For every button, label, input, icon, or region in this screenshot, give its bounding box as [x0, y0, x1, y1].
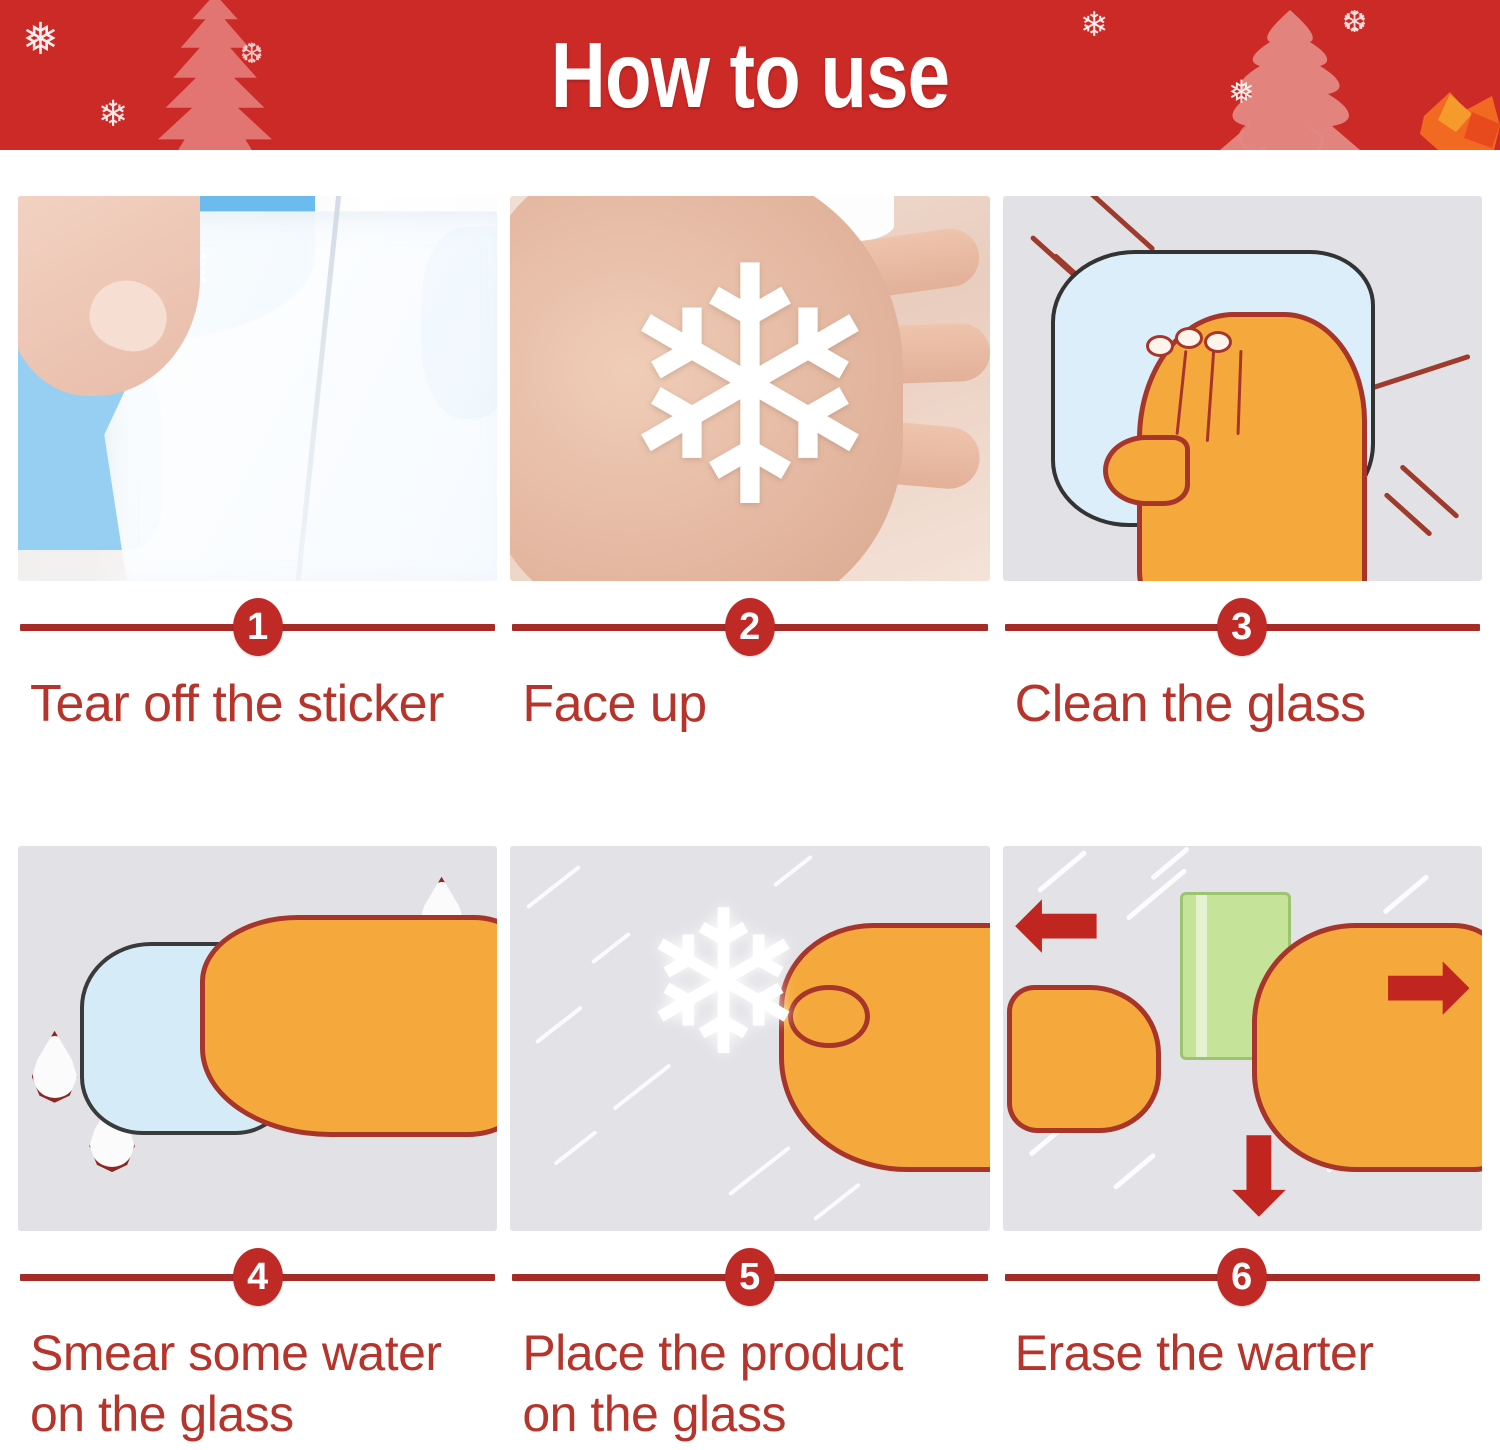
page-title: How to use	[135, 0, 1365, 150]
water-drop-icon	[28, 1031, 82, 1103]
photo-peel-sticker: ❄ ❄	[18, 196, 497, 581]
snowflake-icon: ❄	[612, 224, 889, 554]
steps-grid: ❄ ❄ 1 Tear off the sticker	[0, 150, 1500, 1450]
step-caption: Erase the warter	[1003, 1323, 1482, 1384]
step-divider: 1	[18, 581, 497, 673]
step-number-badge: 2	[725, 598, 775, 656]
step-number: 6	[1232, 1256, 1253, 1299]
step-divider: 2	[510, 581, 989, 673]
arrow-right-icon: ➡	[1382, 931, 1473, 1039]
illustration-erase-water: ⬅ ➡ ⬇	[1003, 846, 1482, 1231]
step-caption: Smear some water on the glass	[18, 1323, 497, 1445]
snowflake-icon: ❄	[640, 885, 808, 1085]
step-divider: 3	[1003, 581, 1482, 673]
illustration-smear-water	[18, 846, 497, 1231]
snowflake-icon: ❅	[22, 18, 59, 62]
step-divider: 5	[510, 1231, 989, 1323]
step-number: 3	[1232, 606, 1253, 649]
step-caption: Tear off the sticker	[18, 673, 497, 736]
step-caption: Clean the glass	[1003, 673, 1482, 736]
step-number: 5	[739, 1256, 760, 1299]
step-2: ❄ 2 Face up	[510, 150, 989, 800]
illustration-clean-glass	[1003, 196, 1482, 581]
step-number-badge: 4	[233, 1248, 283, 1306]
step-divider: 4	[18, 1231, 497, 1323]
illustration-place-product: ❄	[510, 846, 989, 1231]
step-4: 4 Smear some water on the glass	[18, 800, 497, 1450]
step-5: ❄ 5 Place the product on the glass	[510, 800, 989, 1450]
photo-snowflake-in-palm: ❄	[510, 196, 989, 581]
arrow-left-icon: ⬅	[1012, 869, 1103, 977]
step-divider: 6	[1003, 1231, 1482, 1323]
step-1: ❄ ❄ 1 Tear off the sticker	[18, 150, 497, 800]
step-number-badge: 3	[1217, 598, 1267, 656]
arrow-down-icon: ⬇	[1214, 1123, 1305, 1231]
step-6: ⬅ ➡ ⬇ 6 Erase the warter	[1003, 800, 1482, 1450]
step-number-badge: 6	[1217, 1248, 1267, 1306]
step-3: 3 Clean the glass	[1003, 150, 1482, 800]
step-caption: Face up	[510, 673, 989, 736]
header-banner: ❅ ❄ ❆ ❄ ❅ ❆ How to use	[0, 0, 1500, 150]
step-number-badge: 1	[233, 598, 283, 656]
step-number: 2	[739, 606, 760, 649]
step-number: 4	[247, 1256, 268, 1299]
how-to-use-infographic: ❅ ❄ ❆ ❄ ❅ ❆ How to use ❄ ❄	[0, 0, 1500, 1450]
step-number-badge: 5	[725, 1248, 775, 1306]
snowflake-icon: ❄	[98, 96, 128, 132]
ribbon-burst-icon	[1420, 86, 1500, 150]
step-number: 1	[247, 606, 268, 649]
step-caption: Place the product on the glass	[510, 1323, 989, 1445]
